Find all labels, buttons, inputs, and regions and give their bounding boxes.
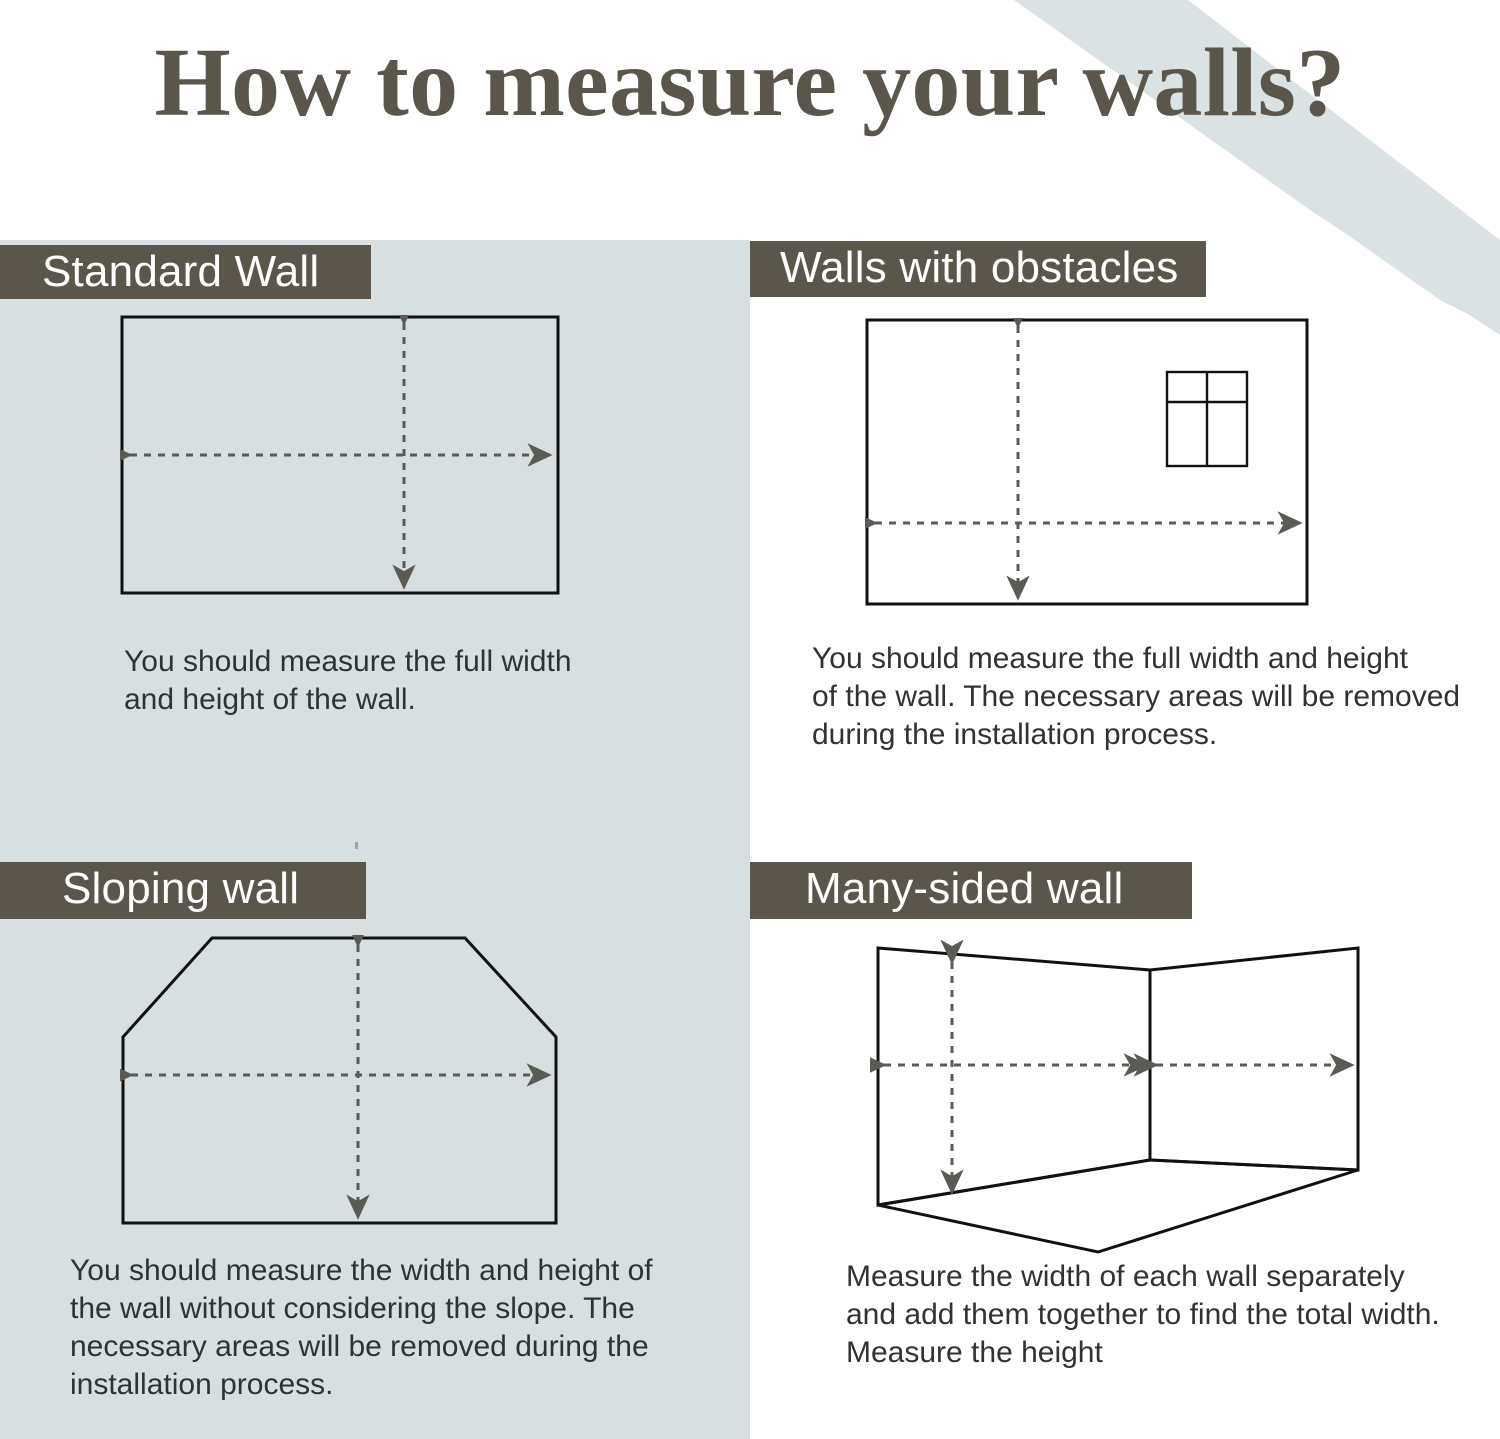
section-label-standard-wall: Standard Wall: [0, 245, 371, 299]
many-sided-wall-diagram: [870, 920, 1360, 1260]
window-obstacle-icon: [1167, 372, 1247, 466]
page-title: How to measure your walls?: [0, 34, 1500, 132]
wall-outline: [867, 320, 1307, 604]
caption-standard-wall: You should measure the full width and he…: [124, 643, 644, 719]
caption-many-sided-wall: Measure the width of each wall separatel…: [846, 1258, 1486, 1372]
wall-outline: [123, 938, 556, 1223]
section-label-sloping-wall: Sloping wall: [0, 862, 366, 919]
section-label-walls-with-obstacles: Walls with obstacles: [750, 241, 1206, 297]
floor-face: [878, 1160, 1358, 1252]
standard-wall-diagram: [120, 315, 600, 615]
section-label-many-sided-wall: Many-sided wall: [750, 862, 1192, 919]
sloping-wall-diagram: [120, 935, 600, 1245]
infographic-page: How to measure your walls? Standard Wall…: [0, 0, 1500, 1439]
walls-with-obstacles-diagram: [865, 318, 1335, 610]
caption-sloping-wall: You should measure the width and height …: [70, 1252, 690, 1404]
caption-walls-with-obstacles: You should measure the full width and he…: [812, 640, 1492, 754]
stray-artifact-mark: [355, 842, 358, 849]
right-wall-face: [1150, 948, 1358, 1170]
